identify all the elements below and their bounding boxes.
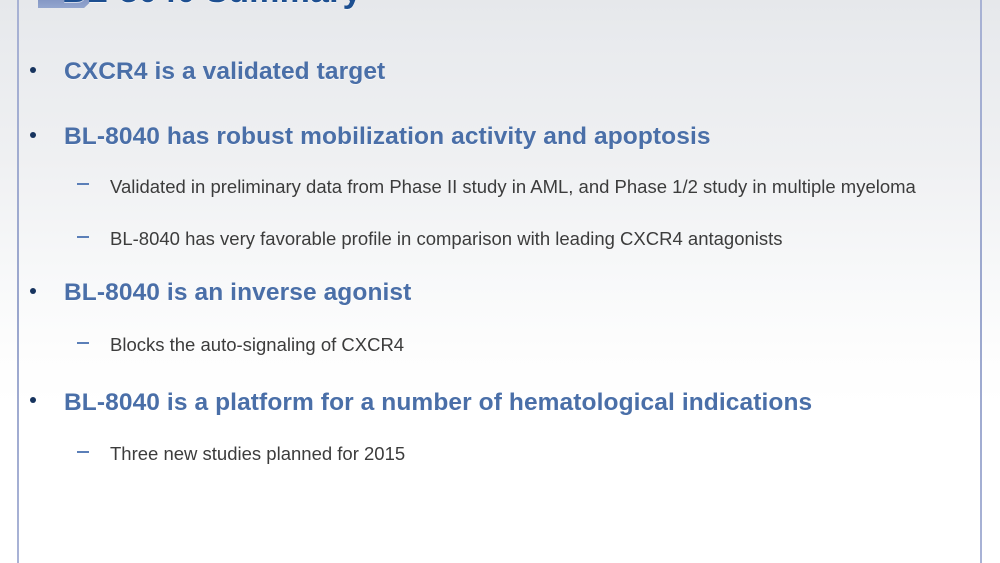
spacer [0, 417, 1000, 441]
round-bullet-icon [30, 132, 36, 138]
bullet-item: CXCR4 is a validated target [0, 58, 1000, 87]
round-bullet-icon [30, 397, 36, 403]
sub-bullet-label: Three new studies planned for 2015 [110, 443, 405, 464]
dash-bullet-icon [77, 342, 89, 344]
slide-title: BL-8040 Summary [62, 0, 942, 16]
dash-bullet-icon [77, 183, 89, 185]
spacer [0, 359, 1000, 389]
bullet-label: BL-8040 is a platform for a number of he… [64, 389, 812, 416]
spacer [0, 308, 1000, 332]
spacer [0, 252, 1000, 279]
sub-bullet-item: Validated in preliminary data from Phase… [0, 174, 1000, 200]
spacer [0, 87, 1000, 123]
sub-bullet-label: Validated in preliminary data from Phase… [110, 176, 916, 197]
slide-canvas: BL-8040 Summary CXCR4 is a validated tar… [0, 0, 1000, 563]
bullet-item: BL-8040 has robust mobilization activity… [0, 123, 1000, 152]
spacer [0, 200, 1000, 226]
round-bullet-icon [30, 288, 36, 294]
bullet-item: BL-8040 is a platform for a number of he… [0, 389, 1000, 418]
slide-body: CXCR4 is a validated target BL-8040 has … [0, 58, 1000, 468]
sub-bullet-item: Blocks the auto-signaling of CXCR4 [0, 332, 1000, 358]
sub-bullet-label: Blocks the auto-signaling of CXCR4 [110, 334, 404, 355]
dash-bullet-icon [77, 236, 89, 238]
bullet-label: BL-8040 is an inverse agonist [64, 279, 411, 306]
round-bullet-icon [30, 67, 36, 73]
sub-bullet-label: BL-8040 has very favorable profile in co… [110, 228, 783, 249]
dash-bullet-icon [77, 451, 89, 453]
bullet-label: BL-8040 has robust mobilization activity… [64, 123, 711, 150]
bullet-item: BL-8040 is an inverse agonist [0, 279, 1000, 308]
sub-bullet-item: Three new studies planned for 2015 [0, 441, 1000, 467]
bullet-label: CXCR4 is a validated target [64, 58, 385, 85]
spacer [0, 152, 1000, 174]
sub-bullet-item: BL-8040 has very favorable profile in co… [0, 226, 1000, 252]
